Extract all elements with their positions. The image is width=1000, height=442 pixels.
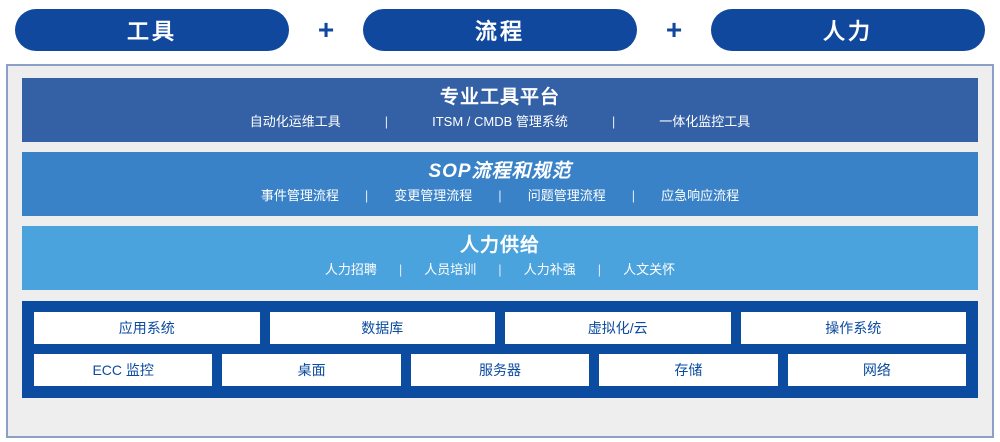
band-item[interactable]: 自动化运维工具 bbox=[224, 111, 367, 133]
pill-tools[interactable]: 工具 bbox=[15, 9, 289, 51]
infra-box-ecc-monitoring[interactable]: ECC 监控 bbox=[34, 354, 212, 386]
infra-box-desktop[interactable]: 桌面 bbox=[222, 354, 400, 386]
infrastructure-row-2: ECC 监控 桌面 服务器 存储 网络 bbox=[34, 354, 966, 386]
plus-icon-2: + bbox=[637, 16, 711, 44]
item-separator: | bbox=[594, 111, 633, 133]
band-manpower-supply-items: 人力招聘 | 人员培训 | 人力补强 | 人文关怀 bbox=[22, 259, 978, 281]
band-manpower-supply: 人力供给 人力招聘 | 人员培训 | 人力补强 | 人文关怀 bbox=[22, 226, 978, 290]
band-tool-platform-title: 专业工具平台 bbox=[22, 85, 978, 111]
infrastructure-panel: 应用系统 数据库 虚拟化/云 操作系统 ECC 监控 桌面 服务器 存储 网络 bbox=[22, 301, 978, 398]
band-tool-platform: 专业工具平台 自动化运维工具 | ITSM / CMDB 管理系统 | 一体化监… bbox=[22, 78, 978, 142]
item-separator: | bbox=[586, 259, 613, 281]
band-sop-process-items: 事件管理流程 | 变更管理流程 | 问题管理流程 | 应急响应流程 bbox=[22, 185, 978, 207]
band-item[interactable]: 问题管理流程 bbox=[516, 185, 618, 207]
item-separator: | bbox=[367, 111, 406, 133]
pill-process-label: 流程 bbox=[475, 14, 525, 46]
band-manpower-supply-title: 人力供给 bbox=[22, 233, 978, 259]
infra-box-virtualization-cloud[interactable]: 虚拟化/云 bbox=[505, 312, 731, 344]
band-tool-platform-items: 自动化运维工具 | ITSM / CMDB 管理系统 | 一体化监控工具 bbox=[22, 111, 978, 133]
band-item[interactable]: ITSM / CMDB 管理系统 bbox=[406, 111, 594, 133]
band-item[interactable]: 人员培训 bbox=[414, 259, 486, 281]
infra-box-network[interactable]: 网络 bbox=[788, 354, 966, 386]
item-separator: | bbox=[618, 185, 649, 207]
pill-manpower[interactable]: 人力 bbox=[711, 9, 985, 51]
item-separator: | bbox=[486, 259, 513, 281]
item-separator: | bbox=[351, 185, 382, 207]
band-item[interactable]: 事件管理流程 bbox=[249, 185, 351, 207]
infra-box-operating-system[interactable]: 操作系统 bbox=[741, 312, 967, 344]
infrastructure-row-1: 应用系统 数据库 虚拟化/云 操作系统 bbox=[34, 312, 966, 344]
pill-tools-label: 工具 bbox=[127, 14, 177, 46]
band-item[interactable]: 变更管理流程 bbox=[382, 185, 484, 207]
band-item[interactable]: 人文关怀 bbox=[613, 259, 685, 281]
band-item[interactable]: 人力招聘 bbox=[315, 259, 387, 281]
band-sop-process: SOP流程和规范 事件管理流程 | 变更管理流程 | 问题管理流程 | 应急响应… bbox=[22, 152, 978, 216]
infra-box-storage[interactable]: 存储 bbox=[599, 354, 777, 386]
item-separator: | bbox=[387, 259, 414, 281]
band-item[interactable]: 一体化监控工具 bbox=[633, 111, 776, 133]
infra-box-application-system[interactable]: 应用系统 bbox=[34, 312, 260, 344]
infra-box-database[interactable]: 数据库 bbox=[270, 312, 496, 344]
top-pill-row: 工具 + 流程 + 人力 bbox=[0, 0, 1000, 60]
band-item[interactable]: 人力补强 bbox=[514, 259, 586, 281]
pill-manpower-label: 人力 bbox=[823, 14, 873, 46]
plus-icon-1: + bbox=[289, 16, 363, 44]
infra-box-server[interactable]: 服务器 bbox=[411, 354, 589, 386]
band-sop-process-title: SOP流程和规范 bbox=[22, 159, 978, 185]
item-separator: | bbox=[484, 185, 515, 207]
band-item[interactable]: 应急响应流程 bbox=[649, 185, 751, 207]
diagram-frame: 专业工具平台 自动化运维工具 | ITSM / CMDB 管理系统 | 一体化监… bbox=[6, 64, 994, 438]
pill-process[interactable]: 流程 bbox=[363, 9, 637, 51]
